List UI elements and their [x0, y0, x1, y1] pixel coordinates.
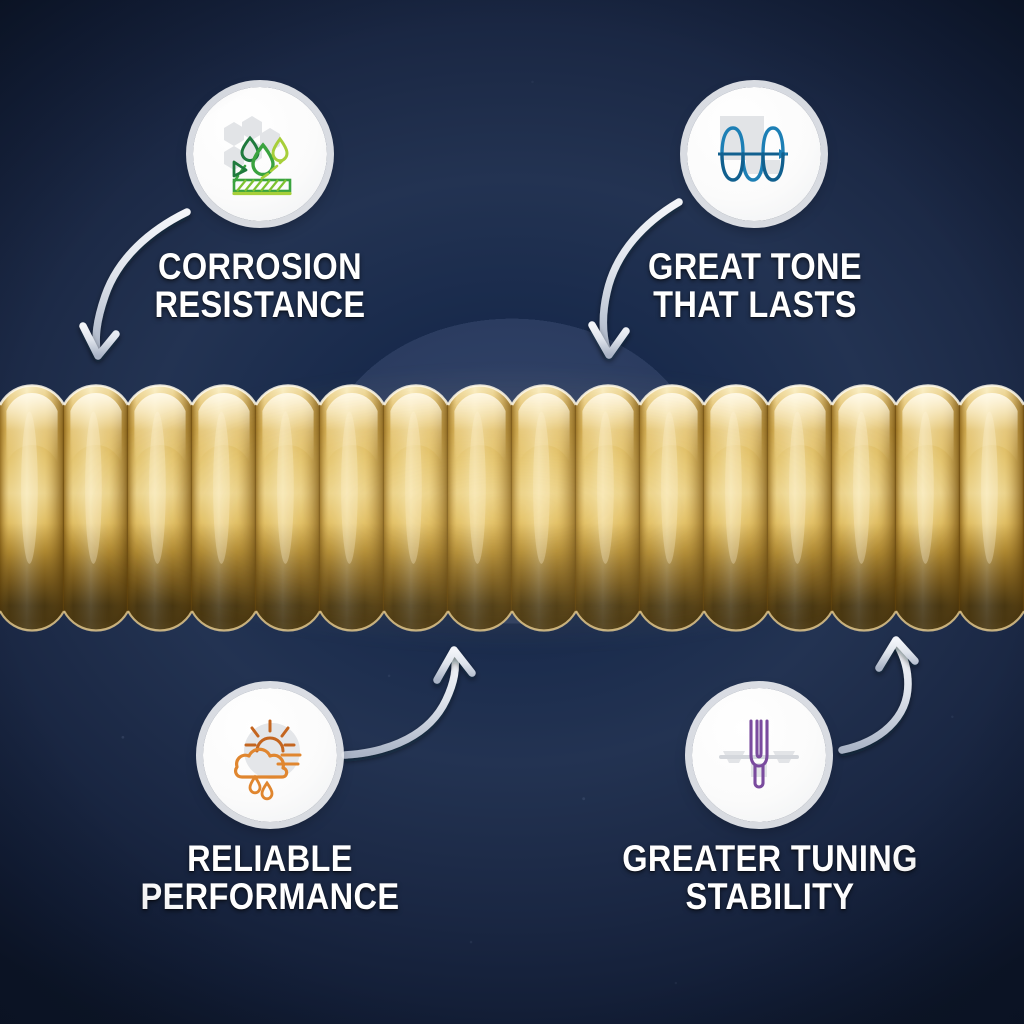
background-vignette: [0, 0, 1024, 1024]
infographic-canvas: CORROSION RESISTANCE GREAT TONE THAT LAS…: [0, 0, 1024, 1024]
